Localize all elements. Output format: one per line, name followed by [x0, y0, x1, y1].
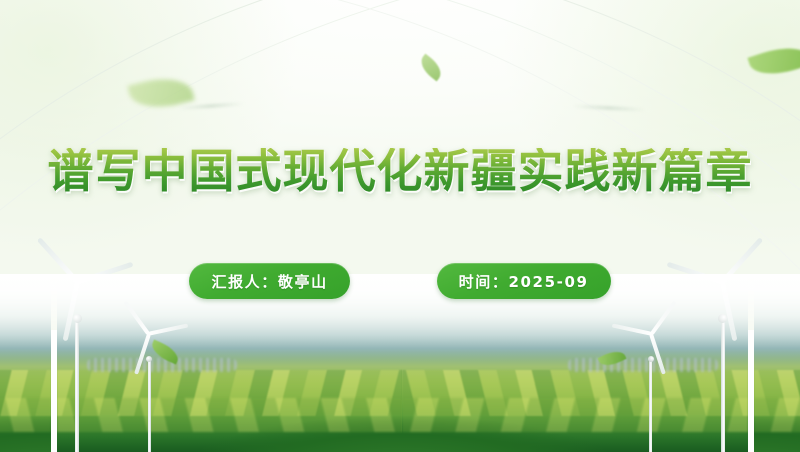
- meta-pill-row: 汇报人：敬亭山 时间：2025-09: [0, 263, 800, 299]
- page-title: 谱写中国式现代化新疆实践新篇章: [48, 148, 753, 194]
- date-badge: 时间：2025-09: [437, 263, 611, 299]
- presenter-badge: 汇报人：敬亭山: [189, 263, 349, 299]
- presentation-slide: 谱写中国式现代化新疆实践新篇章 汇报人：敬亭山 时间：2025-09: [0, 0, 800, 452]
- title-container: 谱写中国式现代化新疆实践新篇章: [0, 148, 800, 194]
- wind-turbine-icon: [620, 334, 682, 452]
- landscape-photo-band: [0, 274, 800, 452]
